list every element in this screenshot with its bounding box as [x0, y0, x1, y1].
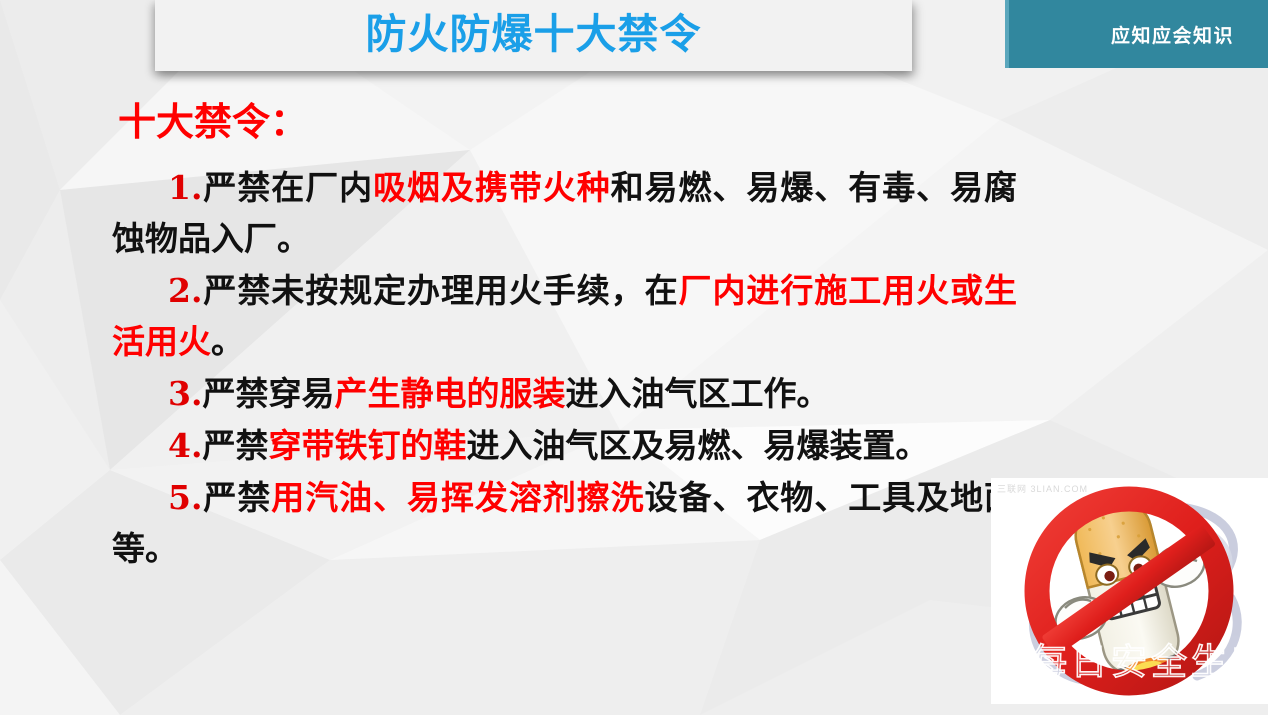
- rule-number: 2.: [168, 271, 202, 310]
- rule-number: 1.: [168, 168, 202, 207]
- rules-list: 1.严禁在厂内吸烟及携带火种和易燃、易爆、有毒、易腐蚀物品入厂。2.严禁未按规定…: [112, 162, 1017, 575]
- rule-item: 3.严禁穿易产生静电的服装进入油气区工作。: [112, 368, 1017, 419]
- section-heading: 十大禁令：: [118, 101, 308, 145]
- rule-item: 5.严禁用汽油、易挥发溶剂擦洗设备、衣物、工具及地面等。: [112, 472, 1017, 574]
- rule-text: 进入油气区及易燃、易爆装置。: [466, 426, 928, 465]
- site-watermark: 三联网 3LIAN.COM: [997, 482, 1088, 495]
- rule-text: 严禁: [202, 478, 271, 517]
- rule-highlight-text: 吸烟及携带火种: [373, 168, 611, 207]
- wechat-icon: [991, 636, 1025, 682]
- rule-item: 2.严禁未按规定办理用火手续，在厂内进行施工用火或生活用火。: [112, 265, 1017, 367]
- no-smoking-figure: 三联网 3LIAN.COM 每日安全生产: [991, 478, 1268, 704]
- rule-highlight-text: 穿带铁钉的鞋: [268, 426, 466, 465]
- rule-number: 4.: [168, 426, 202, 465]
- rule-text: 严禁在厂内: [202, 168, 373, 207]
- rule-item: 1.严禁在厂内吸烟及携带火种和易燃、易爆、有毒、易腐蚀物品入厂。: [112, 162, 1017, 264]
- rule-highlight-text: 产生静电的服装: [334, 374, 565, 413]
- wechat-watermark-label: 每日安全生产: [1031, 633, 1268, 685]
- rule-item: 4.严禁穿带铁钉的鞋进入油气区及易燃、易爆装置。: [112, 420, 1017, 471]
- rule-text: 严禁未按规定办理用火手续，在: [202, 271, 678, 310]
- slide-canvas: 防火防爆十大禁令 应知应会知识 十大禁令： 1.严禁在厂内吸烟及携带火种和易燃、…: [0, 0, 1268, 715]
- corner-banner-label: 应知应会知识: [1111, 21, 1268, 48]
- rule-text: 进入油气区工作。: [565, 374, 829, 413]
- corner-banner: 应知应会知识: [1005, 0, 1268, 68]
- rule-text: 严禁: [202, 426, 268, 465]
- rule-highlight-text: 用汽油、易挥发溶剂擦洗: [271, 478, 644, 517]
- rule-number: 3.: [168, 374, 202, 413]
- corner-banner-accent-bar: [1005, 0, 1009, 68]
- rule-text: 严禁穿易: [202, 374, 334, 413]
- slide-title-panel: 防火防爆十大禁令: [155, 0, 912, 71]
- rule-text: 。: [211, 322, 244, 361]
- rule-number: 5.: [168, 478, 202, 517]
- slide-title: 防火防爆十大禁令: [366, 14, 702, 58]
- wechat-watermark: 每日安全生产: [991, 630, 1268, 688]
